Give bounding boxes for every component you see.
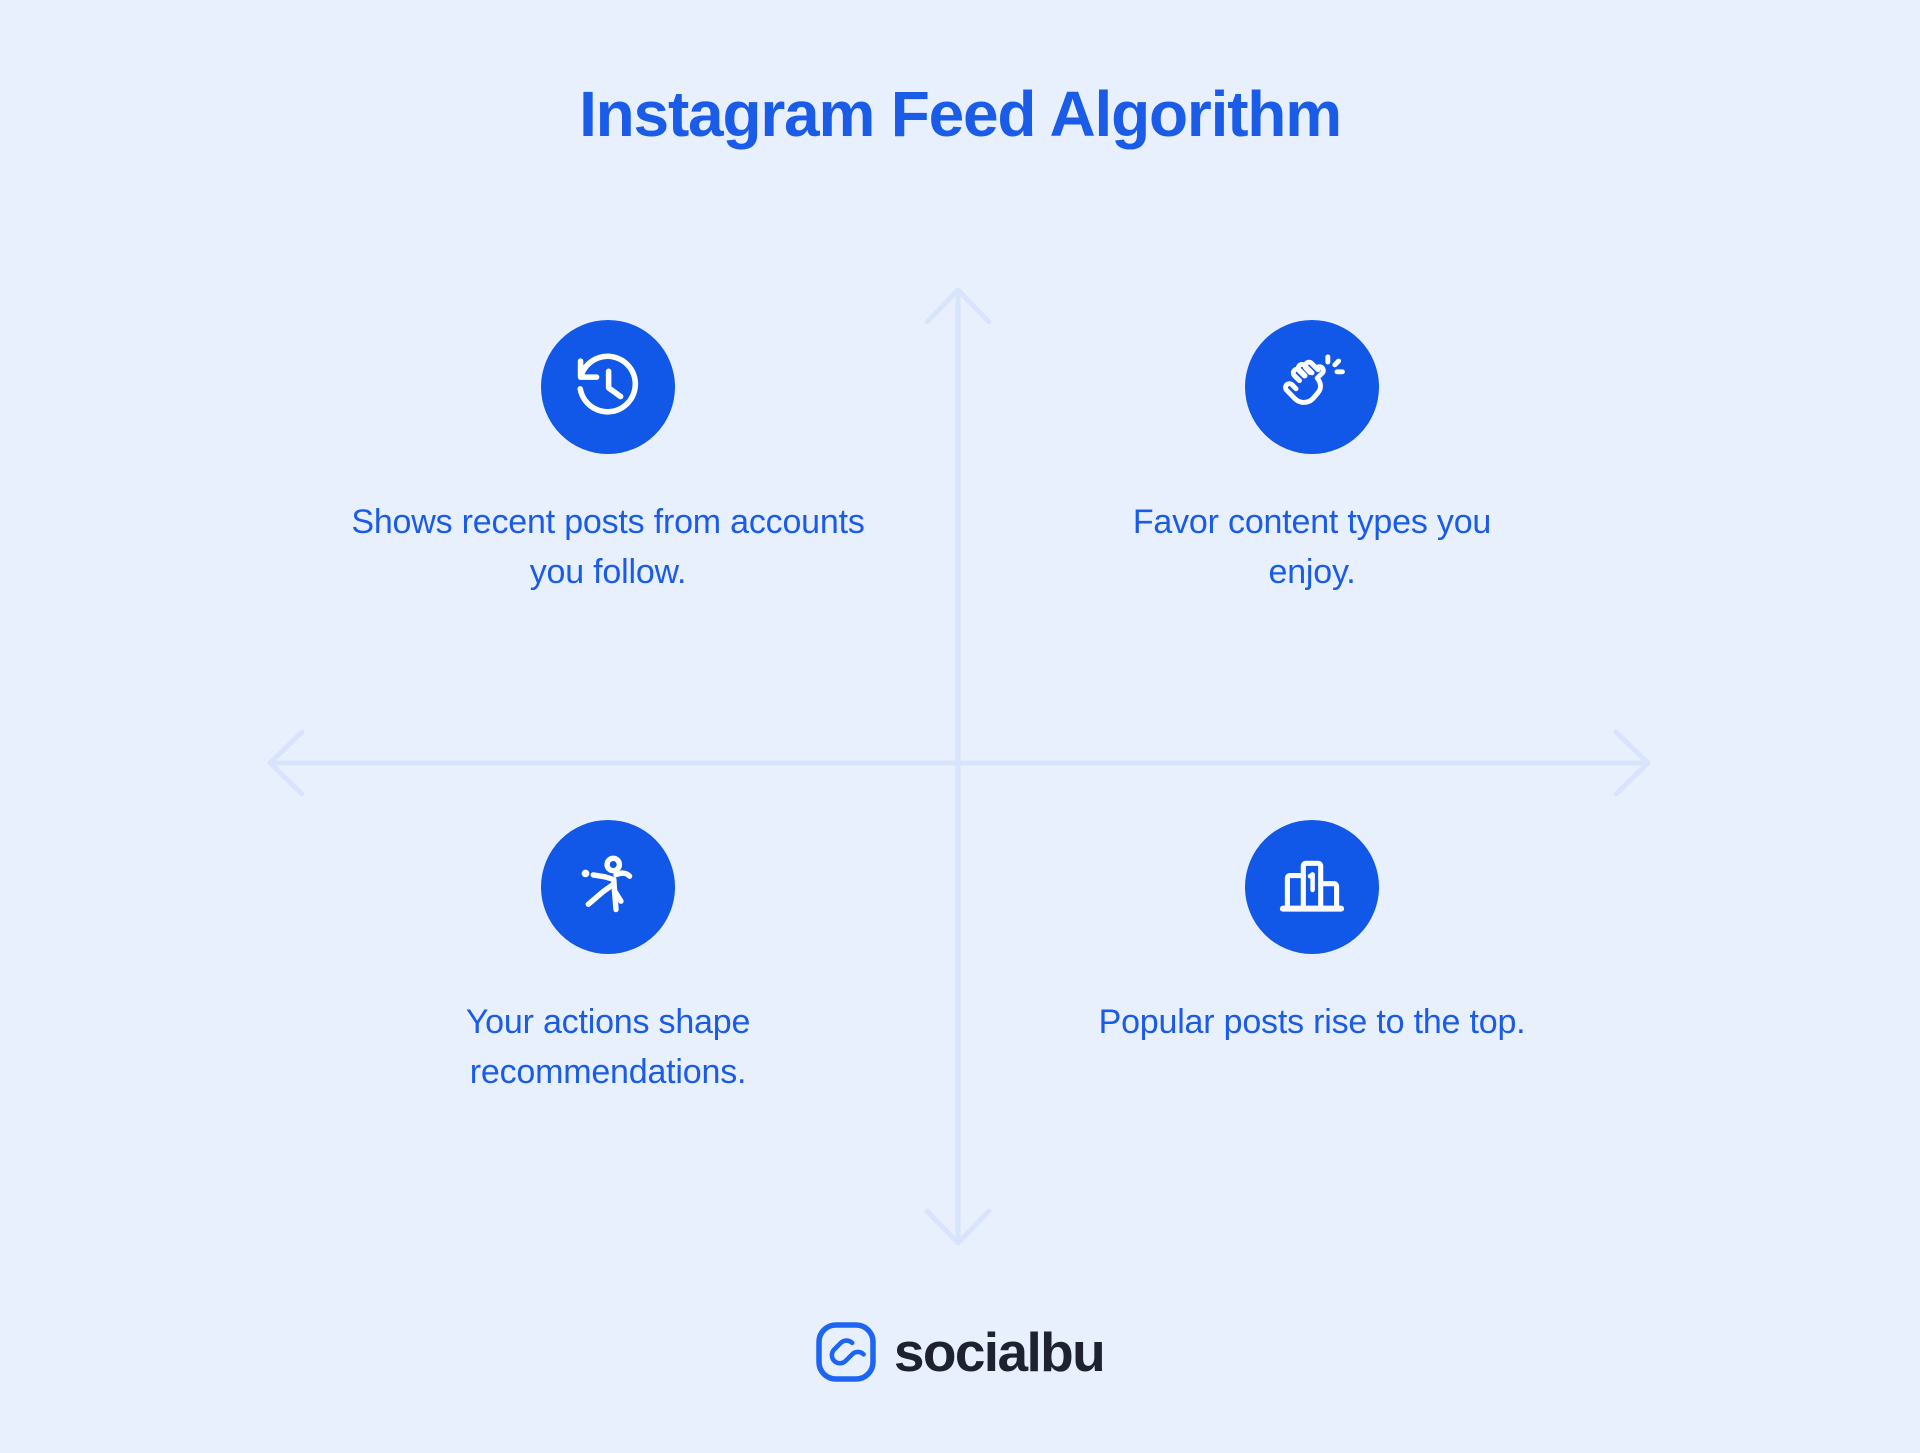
page-title: Instagram Feed Algorithm (0, 82, 1920, 146)
arrow-right-icon (1616, 732, 1648, 794)
quadrant-top-left: Shows recent posts from accounts you fol… (328, 320, 888, 598)
socialbu-wordmark: socialbu (894, 1325, 1104, 1380)
podium-ranking-badge (1245, 820, 1379, 954)
quadrant-caption-bottom-left: Your actions shape recommendations. (398, 998, 818, 1098)
clapping-hands-icon (1274, 349, 1350, 425)
arrow-up-icon (927, 290, 989, 322)
infographic-canvas: Instagram Feed Algorithm (0, 0, 1920, 1453)
quadrant-bottom-left: Your actions shape recommendations. (328, 820, 888, 1098)
running-person-icon (571, 850, 645, 924)
quadrant-caption-bottom-right: Popular posts rise to the top. (1099, 998, 1526, 1048)
podium-ranking-icon (1276, 851, 1348, 923)
socialbu-s-logo-icon (816, 1322, 876, 1382)
history-clock-icon (571, 350, 645, 424)
socialbu-logo[interactable]: socialbu (0, 1322, 1920, 1382)
quadrant-axes (0, 0, 1920, 1453)
arrow-left-icon (270, 732, 302, 794)
quadrant-bottom-right: Popular posts rise to the top. (1032, 820, 1592, 1048)
arrow-down-icon (927, 1211, 989, 1243)
running-person-badge (541, 820, 675, 954)
quadrant-caption-top-right: Favor content types you enjoy. (1097, 498, 1527, 598)
quadrant-top-right: Favor content types you enjoy. (1032, 320, 1592, 598)
clapping-hands-badge (1245, 320, 1379, 454)
quadrant-caption-top-left: Shows recent posts from accounts you fol… (338, 498, 878, 598)
history-clock-badge (541, 320, 675, 454)
